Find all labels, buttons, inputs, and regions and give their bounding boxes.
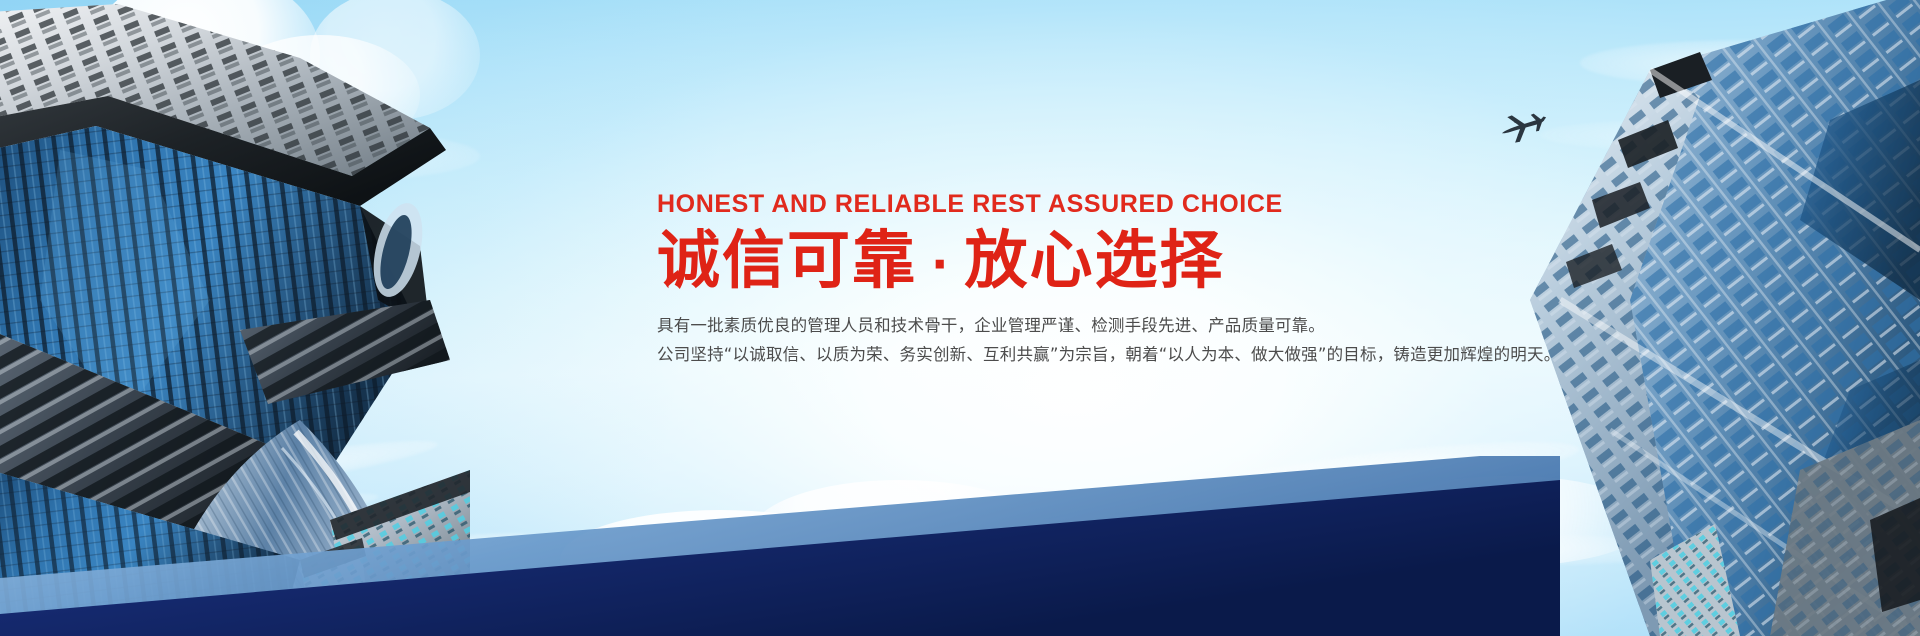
body-line-1: 具有一批素质优良的管理人员和技术骨干，企业管理严谨、检测手段先进、产品质量可靠。	[657, 311, 1657, 340]
navy-building-wedge	[0, 446, 1920, 636]
body-text: 具有一批素质优良的管理人员和技术骨干，企业管理严谨、检测手段先进、产品质量可靠。…	[657, 311, 1657, 370]
headline-chinese: 诚信可靠·放心选择	[657, 226, 1657, 297]
headline-chinese-right: 放心选择	[964, 224, 1224, 297]
headline-separator-dot: ·	[917, 237, 964, 291]
hero-banner: HONEST AND RELIABLE REST ASSURED CHOICE …	[0, 0, 1920, 636]
banner-copy: HONEST AND RELIABLE REST ASSURED CHOICE …	[657, 192, 1657, 369]
headline-chinese-left: 诚信可靠	[657, 224, 917, 297]
body-line-2: 公司坚持“以诚取信、以质为荣、务实创新、互利共赢”为宗旨，朝着“以人为本、做大做…	[657, 340, 1657, 369]
headline-english: HONEST AND RELIABLE REST ASSURED CHOICE	[657, 192, 1657, 217]
